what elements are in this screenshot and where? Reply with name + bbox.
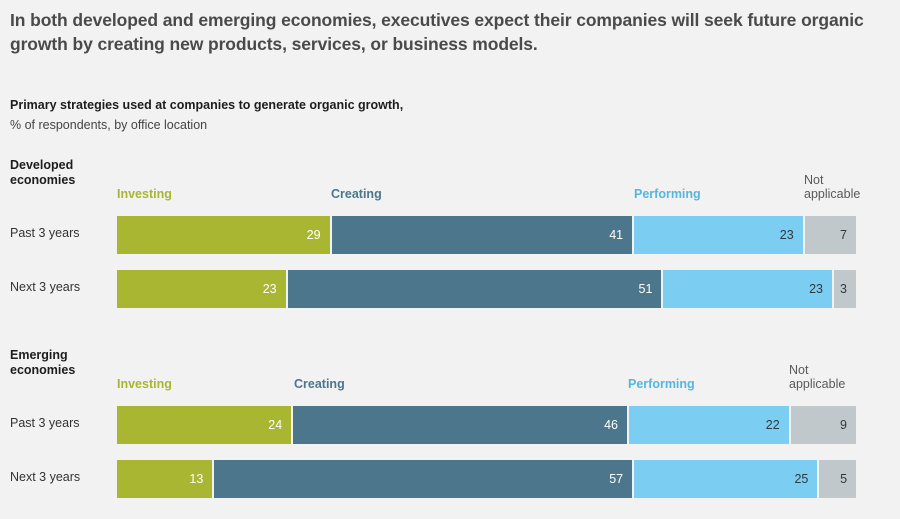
chart-subtitle-block: Primary strategies used at companies to … [10,96,710,134]
group-header-developed: Developed economies Investing Creating P… [0,158,900,206]
bar-segment-creating[interactable]: 46 [293,406,629,444]
legend-item-not-applicable: Not applicable [804,173,860,203]
legend-item-investing: Investing [117,377,172,392]
bar-segment-investing[interactable]: 29 [117,216,332,254]
bar-value-investing: 24 [268,418,291,432]
bar-segment-investing[interactable]: 13 [117,460,214,498]
bar-segment-performing[interactable]: 23 [663,270,834,308]
bar-value-performing: 23 [780,228,803,242]
group-title-developed: Developed economies [10,158,110,189]
bar-value-creating: 41 [609,228,632,242]
bar-segment-not-applicable[interactable]: 5 [819,460,856,498]
bar-value-performing: 25 [794,472,817,486]
stacked-bar-developed-past: 29 41 23 7 [117,216,856,254]
table-row: Past 3 years 24 46 22 9 [0,396,900,450]
stacked-bar-developed-next: 23 51 23 3 [117,270,856,308]
bar-value-investing: 23 [263,282,286,296]
group-header-emerging: Emerging economies Investing Creating Pe… [0,348,900,396]
row-label-past-3-years: Past 3 years [10,416,79,430]
chart-group-emerging: Emerging economies Investing Creating Pe… [0,348,900,504]
row-label-next-3-years: Next 3 years [10,280,80,294]
stacked-bar-emerging-past: 24 46 22 9 [117,406,856,444]
legend-item-not-applicable: Not applicable [789,363,845,393]
bar-value-investing: 29 [307,228,330,242]
bar-value-investing: 13 [189,472,212,486]
legend-item-creating: Creating [331,187,382,202]
chart-page: In both developed and emerging economies… [0,0,900,519]
table-row: Next 3 years 23 51 23 3 [0,260,900,314]
bar-segment-creating[interactable]: 51 [288,270,664,308]
bar-segment-creating[interactable]: 41 [332,216,635,254]
bar-value-creating: 57 [609,472,632,486]
bar-segment-creating[interactable]: 57 [214,460,634,498]
legend-developed: Investing Creating Performing Not applic… [117,158,856,206]
bar-value-creating: 46 [604,418,627,432]
bar-segment-performing[interactable]: 23 [634,216,805,254]
row-label-past-3-years: Past 3 years [10,226,79,240]
bar-value-not-applicable: 9 [840,418,856,432]
table-row: Past 3 years 29 41 23 7 [0,206,900,260]
bar-segment-not-applicable[interactable]: 9 [791,406,856,444]
table-row: Next 3 years 13 57 25 5 [0,450,900,504]
chart-group-developed: Developed economies Investing Creating P… [0,158,900,314]
bar-segment-performing[interactable]: 25 [634,460,819,498]
bar-value-creating: 51 [639,282,662,296]
chart-subtitle-units: % of respondents, by office location [10,116,710,134]
chart-subtitle-main: Primary strategies used at companies to … [10,96,710,114]
bar-segment-performing[interactable]: 22 [629,406,791,444]
bar-segment-investing[interactable]: 23 [117,270,288,308]
bar-value-not-applicable: 3 [840,282,856,296]
row-label-next-3-years: Next 3 years [10,470,80,484]
bar-value-not-applicable: 7 [840,228,856,242]
bar-value-performing: 23 [809,282,832,296]
legend-item-investing: Investing [117,187,172,202]
legend-item-performing: Performing [628,377,695,392]
group-title-emerging: Emerging economies [10,348,110,379]
legend-item-creating: Creating [294,377,345,392]
legend-item-performing: Performing [634,187,701,202]
bar-segment-not-applicable[interactable]: 7 [805,216,856,254]
bar-value-performing: 22 [766,418,789,432]
bar-value-not-applicable: 5 [840,472,856,486]
legend-emerging: Investing Creating Performing Not applic… [117,348,856,396]
page-title: In both developed and emerging economies… [10,8,892,56]
bar-segment-not-applicable[interactable]: 3 [834,270,856,308]
bar-segment-investing[interactable]: 24 [117,406,293,444]
stacked-bar-emerging-next: 13 57 25 5 [117,460,856,498]
